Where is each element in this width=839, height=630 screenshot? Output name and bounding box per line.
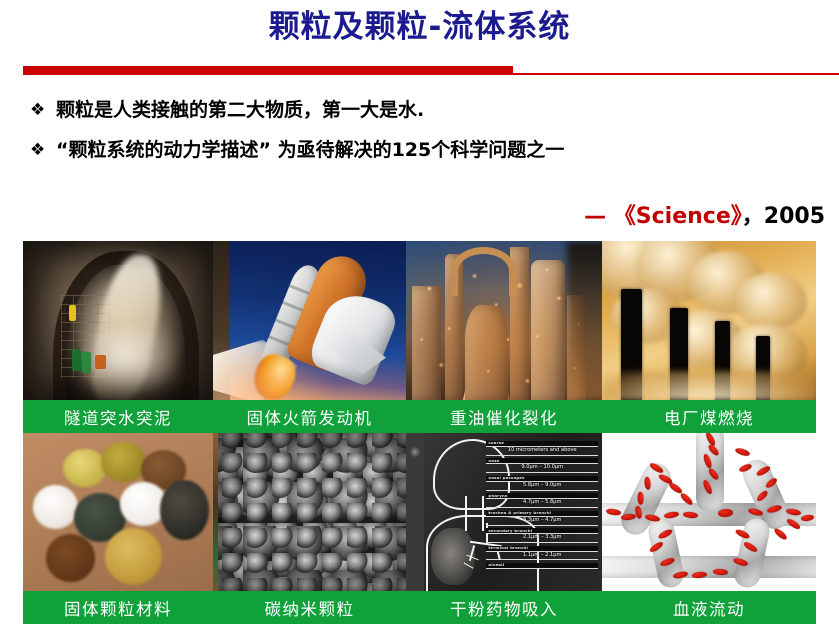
caption-refinery: 重油催化裂化 [406,400,602,433]
label-value: 2.1µm – 3.3µm [486,534,598,543]
label-row: terminal bronchi 1.1µm – 2.1µm [486,546,598,561]
capillary-segment [602,556,816,578]
gallery-image-powders [23,433,213,591]
caption-band-row-1: 隧道突水突泥 固体火箭发动机 重油催化裂化 电厂煤燃烧 [23,400,816,433]
vignette [213,433,406,591]
bullet-text-1: 颗粒是人类接触的第二大物质，第一大是水. [56,98,830,124]
caption-band-row-2: 固体颗粒材料 碳纳米颗粒 干粉药物吸入 血液流动 [23,591,816,624]
label-row: trachea & primary bronchi 3.3µm – 4.7µm [486,511,598,526]
bullet-item-1: ❖ 颗粒是人类接触的第二大物质，第一大是水. [30,98,830,124]
label-name: alveoli [486,563,598,569]
caption-powders: 固体颗粒材料 [23,591,213,624]
label-value: 3.3µm – 4.7µm [486,517,598,526]
caption-inhalation: 干粉药物吸入 [406,591,602,624]
left-edge-strip [213,433,218,591]
image-gallery: 隧道突水突泥 固体火箭发动机 重油催化裂化 电厂煤燃烧 [23,241,816,624]
solid-rocket-motor-launch-art [213,241,406,400]
power-plant-coal-combustion-smokestacks-art [602,241,816,400]
citation-source: 《Science》 [614,204,742,229]
label-row: pharynx 4.7µm – 5.8µm [486,493,598,508]
left-texture-column [406,433,424,591]
caption-bloodflow: 血液流动 [602,591,816,624]
label-row: nasal passages 5.8µm – 9.0µm [486,476,598,491]
gallery-image-inhalation: coarse 10 micrometers and above nose 9.0… [406,433,602,591]
citation-year: ，2005 [742,204,825,229]
label-value: 5.8µm – 9.0µm [486,482,598,491]
label-row: secondary bronchi 2.1µm – 3.3µm [486,528,598,543]
citation-dash: — [584,204,606,229]
citation: — 《Science》，2005 [584,198,825,230]
caption-smokestacks: 电厂煤燃烧 [602,400,816,433]
capillary-segment [732,516,772,589]
gallery-image-nanoparticles [213,433,406,591]
slide-root: 颗粒及颗粒-流体系统 ❖ 颗粒是人类接触的第二大物质，第一大是水. ❖ “颗粒系… [0,0,839,630]
tunnel-water-mud-burst-art [23,241,213,400]
gallery-image-rocket [213,241,406,400]
page-title: 颗粒及颗粒-流体系统 [0,10,839,44]
label-value: 9.0µm – 10.0µm [486,464,598,473]
ground-haze [602,371,816,400]
divider-thick-bar [23,66,513,75]
label-value: 1.1µm – 2.1µm [486,552,598,561]
gallery-image-bloodflow [602,433,816,591]
label-value: 4.7µm – 5.8µm [486,499,598,508]
gallery-image-tunnel [23,241,213,400]
label-value: 10 micrometers and above [486,447,598,456]
label-row: coarse 10 micrometers and above [486,441,598,456]
bullet-item-2: ❖ “颗粒系统的动力学描述” 为亟待解决的125个科学问题之一 [30,138,830,164]
caption-tunnel: 隧道突水突泥 [23,400,213,433]
solid-particulate-materials-powders-art [23,433,213,591]
texture-grain [23,433,213,591]
blood-flow-capillary-network-art [602,433,816,591]
diamond-bullet-icon: ❖ [30,138,56,162]
gallery-image-smokestacks [602,241,816,400]
title-divider [0,66,839,78]
diamond-bullet-icon: ❖ [30,98,56,122]
stack-smoke [567,241,602,400]
bullet-list: ❖ 颗粒是人类接触的第二大物质，第一大是水. ❖ “颗粒系统的动力学描述” 为亟… [30,98,830,177]
caption-nanoparticles: 碳纳米颗粒 [213,591,406,624]
gallery-image-refinery [406,241,602,400]
caption-rocket: 固体火箭发动机 [213,400,406,433]
launch-glow [213,349,337,400]
vignette [23,241,213,400]
particle-size-label-list: coarse 10 micrometers and above nose 9.0… [486,441,598,586]
dry-powder-drug-inhalation-diagram-art: coarse 10 micrometers and above nose 9.0… [406,433,602,591]
bullet-text-2: “颗粒系统的动力学描述” 为亟待解决的125个科学问题之一 [56,138,830,164]
label-row: alveoli [486,563,598,569]
label-row: nose 9.0µm – 10.0µm [486,458,598,473]
capillary-segment [646,516,686,589]
heavy-oil-catalytic-cracking-refinery-art [406,241,602,400]
carbon-nanoparticles-sem-art [213,433,406,591]
